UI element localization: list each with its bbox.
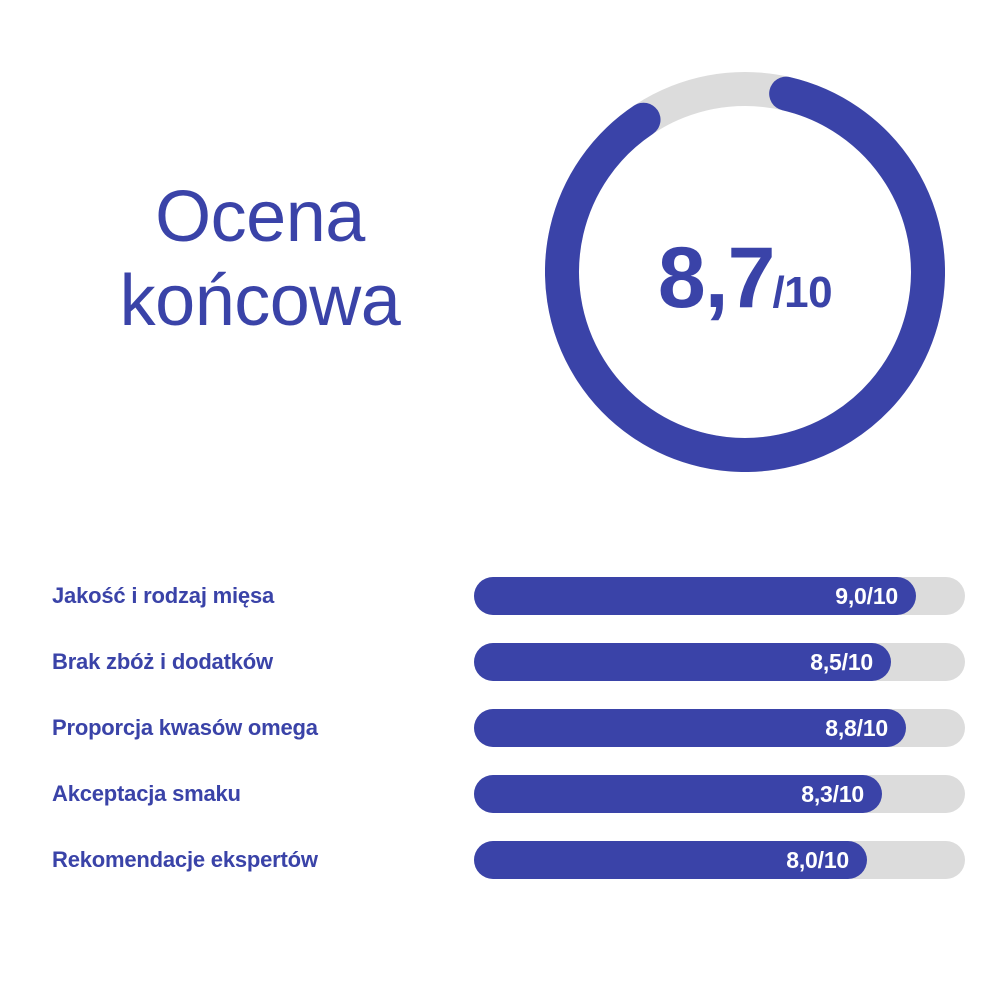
criterion-label: Jakość i rodzaj mięsa (52, 583, 452, 609)
criterion-bar-fill: 8,8/10 (474, 709, 906, 747)
criterion-value-label: 8,0/10 (786, 847, 867, 874)
criterion-value-label: 8,8/10 (825, 715, 906, 742)
criterion-bar-fill: 8,0/10 (474, 841, 867, 879)
criterion-bar-track: 8,8/10 (474, 709, 965, 747)
criterion-value-label: 8,5/10 (810, 649, 891, 676)
criterion-row: Jakość i rodzaj mięsa9,0/10 (0, 563, 1000, 629)
criterion-label: Brak zbóż i dodatków (52, 649, 452, 675)
overall-score-gauge: 8,7 /10 (545, 72, 945, 472)
criterion-label: Proporcja kwasów omega (52, 715, 452, 741)
criterion-row: Brak zbóż i dodatków8,5/10 (0, 629, 1000, 695)
criterion-bar-track: 8,5/10 (474, 643, 965, 681)
criteria-bar-list: Jakość i rodzaj mięsa9,0/10Brak zbóż i d… (0, 563, 1000, 893)
page-title-line-1: Ocena (40, 175, 480, 259)
criterion-row: Proporcja kwasów omega8,8/10 (0, 695, 1000, 761)
criterion-value-label: 8,3/10 (801, 781, 882, 808)
gauge-value-arc (545, 72, 945, 472)
criterion-row: Rekomendacje ekspertów8,0/10 (0, 827, 1000, 893)
criterion-bar-track: 8,3/10 (474, 775, 965, 813)
criterion-bar-fill: 8,3/10 (474, 775, 882, 813)
gauge-donut-chart (545, 72, 945, 472)
criterion-label: Rekomendacje ekspertów (52, 847, 452, 873)
page-title: Ocena końcowa (40, 175, 480, 343)
rating-infographic: Ocena końcowa 8,7 /10 Jakość i rodzaj mi… (0, 0, 1000, 1000)
criterion-value-label: 9,0/10 (835, 583, 916, 610)
criterion-row: Akceptacja smaku8,3/10 (0, 761, 1000, 827)
overall-rating-section: Ocena końcowa 8,7 /10 (0, 0, 1000, 540)
criterion-bar-fill: 9,0/10 (474, 577, 916, 615)
page-title-line-2: końcowa (40, 259, 480, 343)
criterion-label: Akceptacja smaku (52, 781, 452, 807)
criterion-bar-track: 8,0/10 (474, 841, 965, 879)
criterion-bar-track: 9,0/10 (474, 577, 965, 615)
criterion-bar-fill: 8,5/10 (474, 643, 891, 681)
